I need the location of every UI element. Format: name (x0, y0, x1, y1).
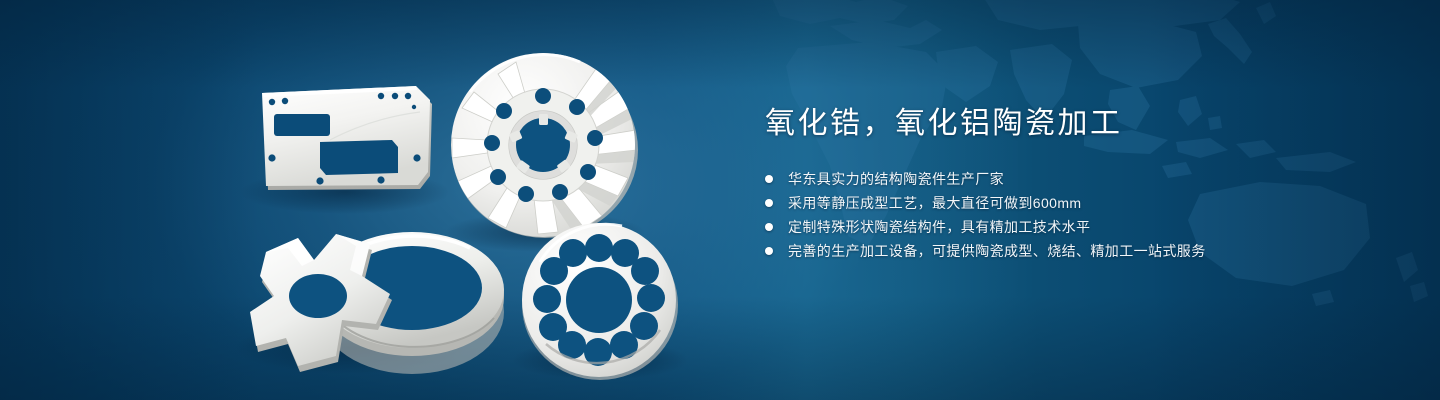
promo-banner: 氧化锆，氧化铝陶瓷加工 华东具实力的结构陶瓷件生产厂家 采用等静压成型工艺，最大… (0, 0, 1440, 400)
banner-headline: 氧化锆，氧化铝陶瓷加工 (765, 104, 1365, 144)
feature-text: 华东具实力的结构陶瓷件生产厂家 (788, 171, 1004, 187)
ceramic-products-photo (0, 0, 740, 400)
perforated-ceramic-disc (522, 223, 678, 380)
bullet-dot-icon (765, 247, 773, 255)
feature-list: 华东具实力的结构陶瓷件生产厂家 采用等静压成型工艺，最大直径可做到600mm 定… (765, 171, 1365, 259)
feature-text: 采用等静压成型工艺，最大直径可做到600mm (788, 195, 1081, 211)
feature-text: 完善的生产加工设备，可提供陶瓷成型、烧结、精加工一站式服务 (788, 243, 1206, 259)
bullet-dot-icon (765, 223, 773, 231)
feature-text: 定制特殊形状陶瓷结构件，具有精加工技术水平 (788, 219, 1090, 235)
ceramic-impeller-wheel (451, 53, 638, 238)
bullet-dot-icon (765, 199, 773, 207)
list-item: 华东具实力的结构陶瓷件生产厂家 (765, 171, 1365, 187)
list-item: 采用等静压成型工艺，最大直径可做到600mm (765, 195, 1365, 211)
machined-ceramic-plate (262, 86, 432, 190)
list-item: 完善的生产加工设备，可提供陶瓷成型、烧结、精加工一站式服务 (765, 243, 1365, 259)
banner-copy: 氧化锆，氧化铝陶瓷加工 华东具实力的结构陶瓷件生产厂家 采用等静压成型工艺，最大… (765, 104, 1365, 259)
list-item: 定制特殊形状陶瓷结构件，具有精加工技术水平 (765, 219, 1365, 235)
bullet-dot-icon (765, 175, 773, 183)
